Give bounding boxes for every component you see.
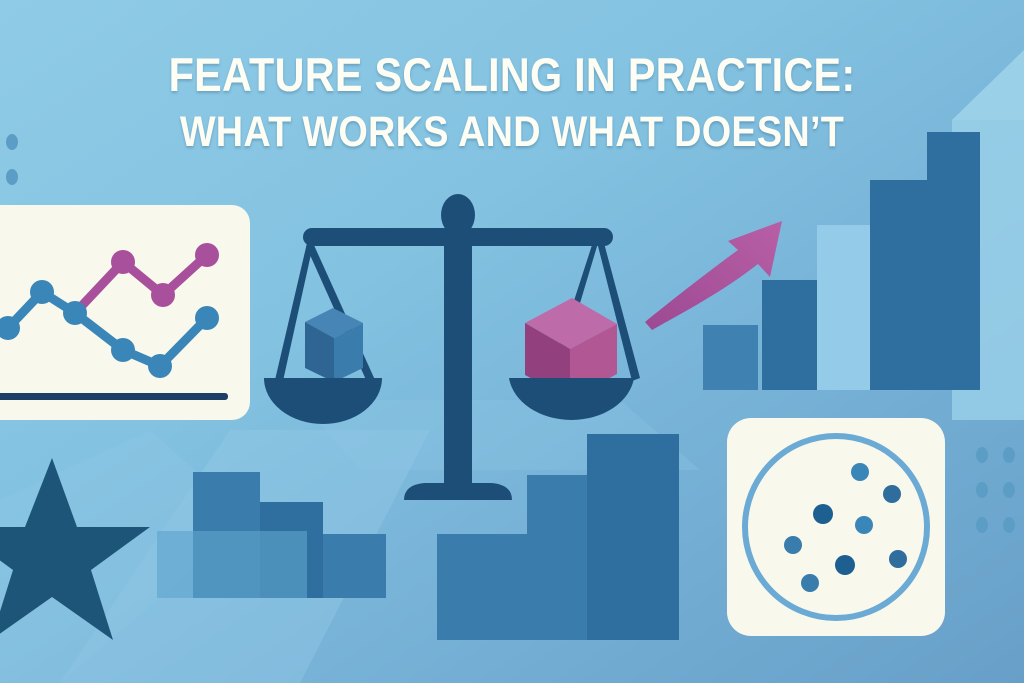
- desc-overlay-block: [157, 531, 307, 598]
- desc-step-3: [323, 534, 386, 598]
- growth-arrow: [645, 221, 782, 330]
- decorative-dots-right: [976, 447, 1015, 533]
- left-pan: [264, 378, 382, 424]
- deco-dot: [976, 517, 988, 533]
- illustration-canvas: FEATURE SCALING IN PRACTICE: WHAT WORKS …: [0, 0, 1024, 683]
- scatter-point: [855, 516, 873, 534]
- deco-dot: [6, 169, 18, 185]
- bar-2: [762, 280, 817, 390]
- line-chart-card: [0, 205, 250, 420]
- artwork-layer: [0, 0, 1024, 683]
- balance-scale: [264, 194, 640, 500]
- scale-stand: [404, 230, 512, 500]
- scale-beam: [303, 228, 613, 246]
- chart-axis-baseline: [0, 393, 228, 400]
- star-shape: [0, 458, 150, 640]
- scatter-point: [889, 550, 907, 568]
- deco-dot: [1003, 447, 1015, 463]
- bar-1: [703, 325, 758, 390]
- deco-dot: [6, 134, 18, 150]
- descending-staircase: [157, 472, 386, 598]
- deco-dot: [976, 447, 988, 463]
- bar-3: [817, 225, 872, 390]
- scatter-point: [784, 536, 802, 554]
- scatter-plot-card: [727, 418, 945, 636]
- scatter-point: [835, 555, 855, 575]
- ascending-staircase: [437, 434, 679, 640]
- deco-dot: [1003, 517, 1015, 533]
- scatter-point: [883, 485, 901, 503]
- bar-4: [870, 180, 927, 390]
- stair-step-1: [437, 534, 527, 640]
- left-cube: [305, 308, 363, 382]
- scatter-point: [851, 463, 869, 481]
- stair-step-3: [587, 434, 679, 640]
- scatter-point: [813, 504, 833, 524]
- deco-dot: [1003, 482, 1015, 498]
- scatter-point: [801, 574, 819, 592]
- deco-dot: [976, 482, 988, 498]
- stair-step-2: [527, 475, 587, 640]
- right-pan: [509, 378, 634, 420]
- decorative-dots-left: [6, 134, 18, 185]
- bar-5: [927, 132, 980, 390]
